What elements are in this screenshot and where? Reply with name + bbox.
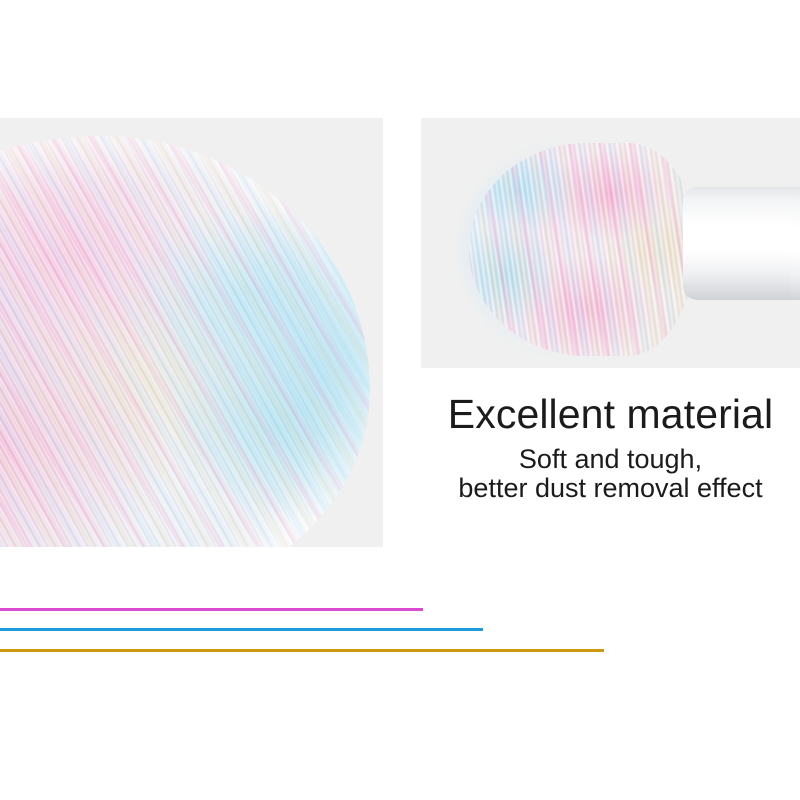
subline-second: better dust removal effect bbox=[421, 474, 800, 503]
brush-bristle-macro-image bbox=[0, 136, 370, 547]
bristle-blue-rim-glow bbox=[116, 174, 370, 547]
feature-text-block: Excellent material Soft and tough, bette… bbox=[421, 390, 800, 503]
brush-head bbox=[469, 143, 696, 356]
product-feature-page: Excellent material Soft and tough, bette… bbox=[0, 0, 800, 800]
brush-product-panel bbox=[421, 118, 800, 368]
brush-ferrule bbox=[683, 187, 800, 300]
decorative-rule-gold bbox=[0, 649, 604, 652]
subline-first: Soft and tough, bbox=[421, 445, 800, 474]
decorative-rule-blue bbox=[0, 628, 483, 631]
bristle-edge-highlight bbox=[0, 136, 370, 547]
brush-handle bbox=[791, 189, 800, 298]
macro-bristle-panel bbox=[0, 118, 383, 547]
decorative-rule-pink bbox=[0, 608, 423, 611]
headline: Excellent material bbox=[421, 390, 800, 438]
